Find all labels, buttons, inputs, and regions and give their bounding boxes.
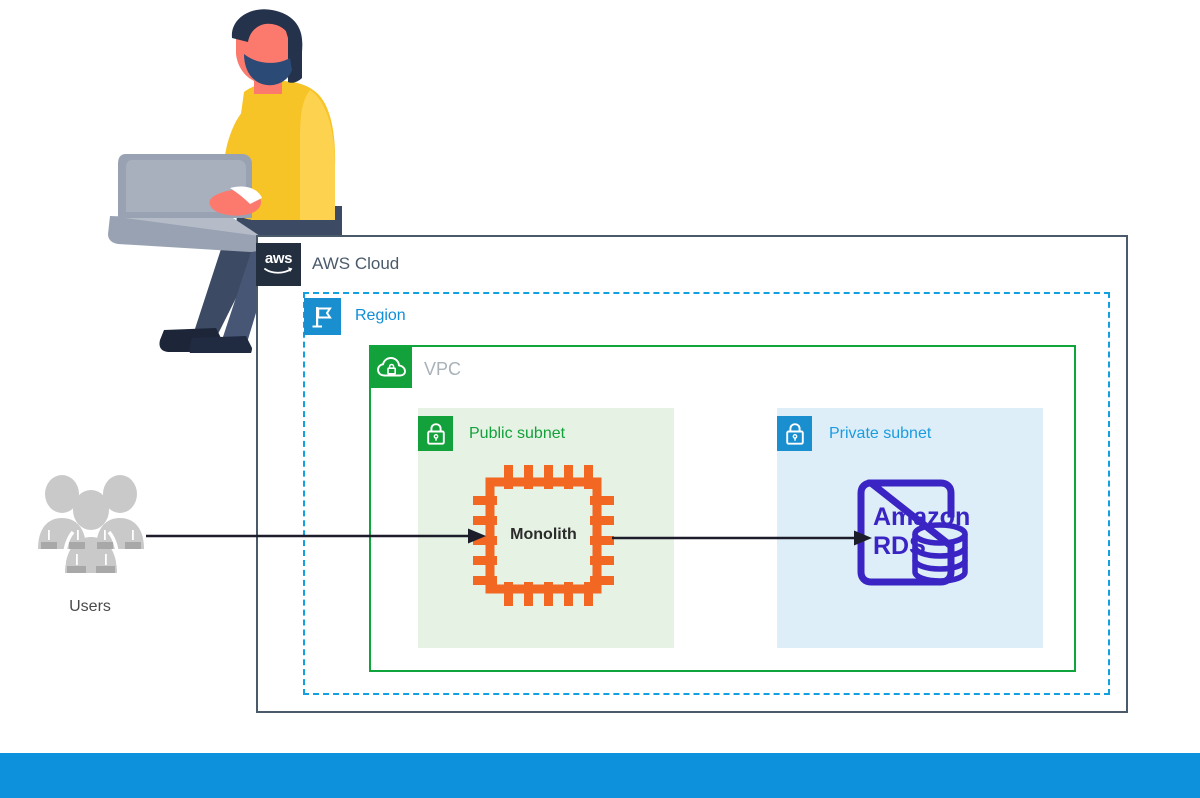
users-label: Users <box>20 598 160 616</box>
vpc-label: VPC <box>424 359 461 380</box>
monolith-label: Monolith <box>473 526 614 544</box>
aws-cloud-label: AWS Cloud <box>312 254 399 274</box>
bottom-brand-bar <box>0 753 1200 798</box>
amazon-rds-icon: Amazon RDS <box>855 478 973 592</box>
aws-logo-icon: aws <box>256 243 301 286</box>
connection-monolith-to-rds <box>612 522 872 554</box>
private-subnet-label: Private subnet <box>829 425 931 443</box>
connection-users-to-monolith <box>146 520 486 552</box>
private-subnet-lock-icon <box>777 416 812 451</box>
region-flag-icon <box>304 298 341 335</box>
users-icon <box>36 472 146 587</box>
vpc-cloud-lock-icon <box>371 347 412 388</box>
region-label: Region <box>355 307 406 325</box>
aws-logo-text: aws <box>265 253 292 265</box>
public-subnet-label: Public subnet <box>469 425 565 443</box>
public-subnet-lock-icon <box>418 416 453 451</box>
